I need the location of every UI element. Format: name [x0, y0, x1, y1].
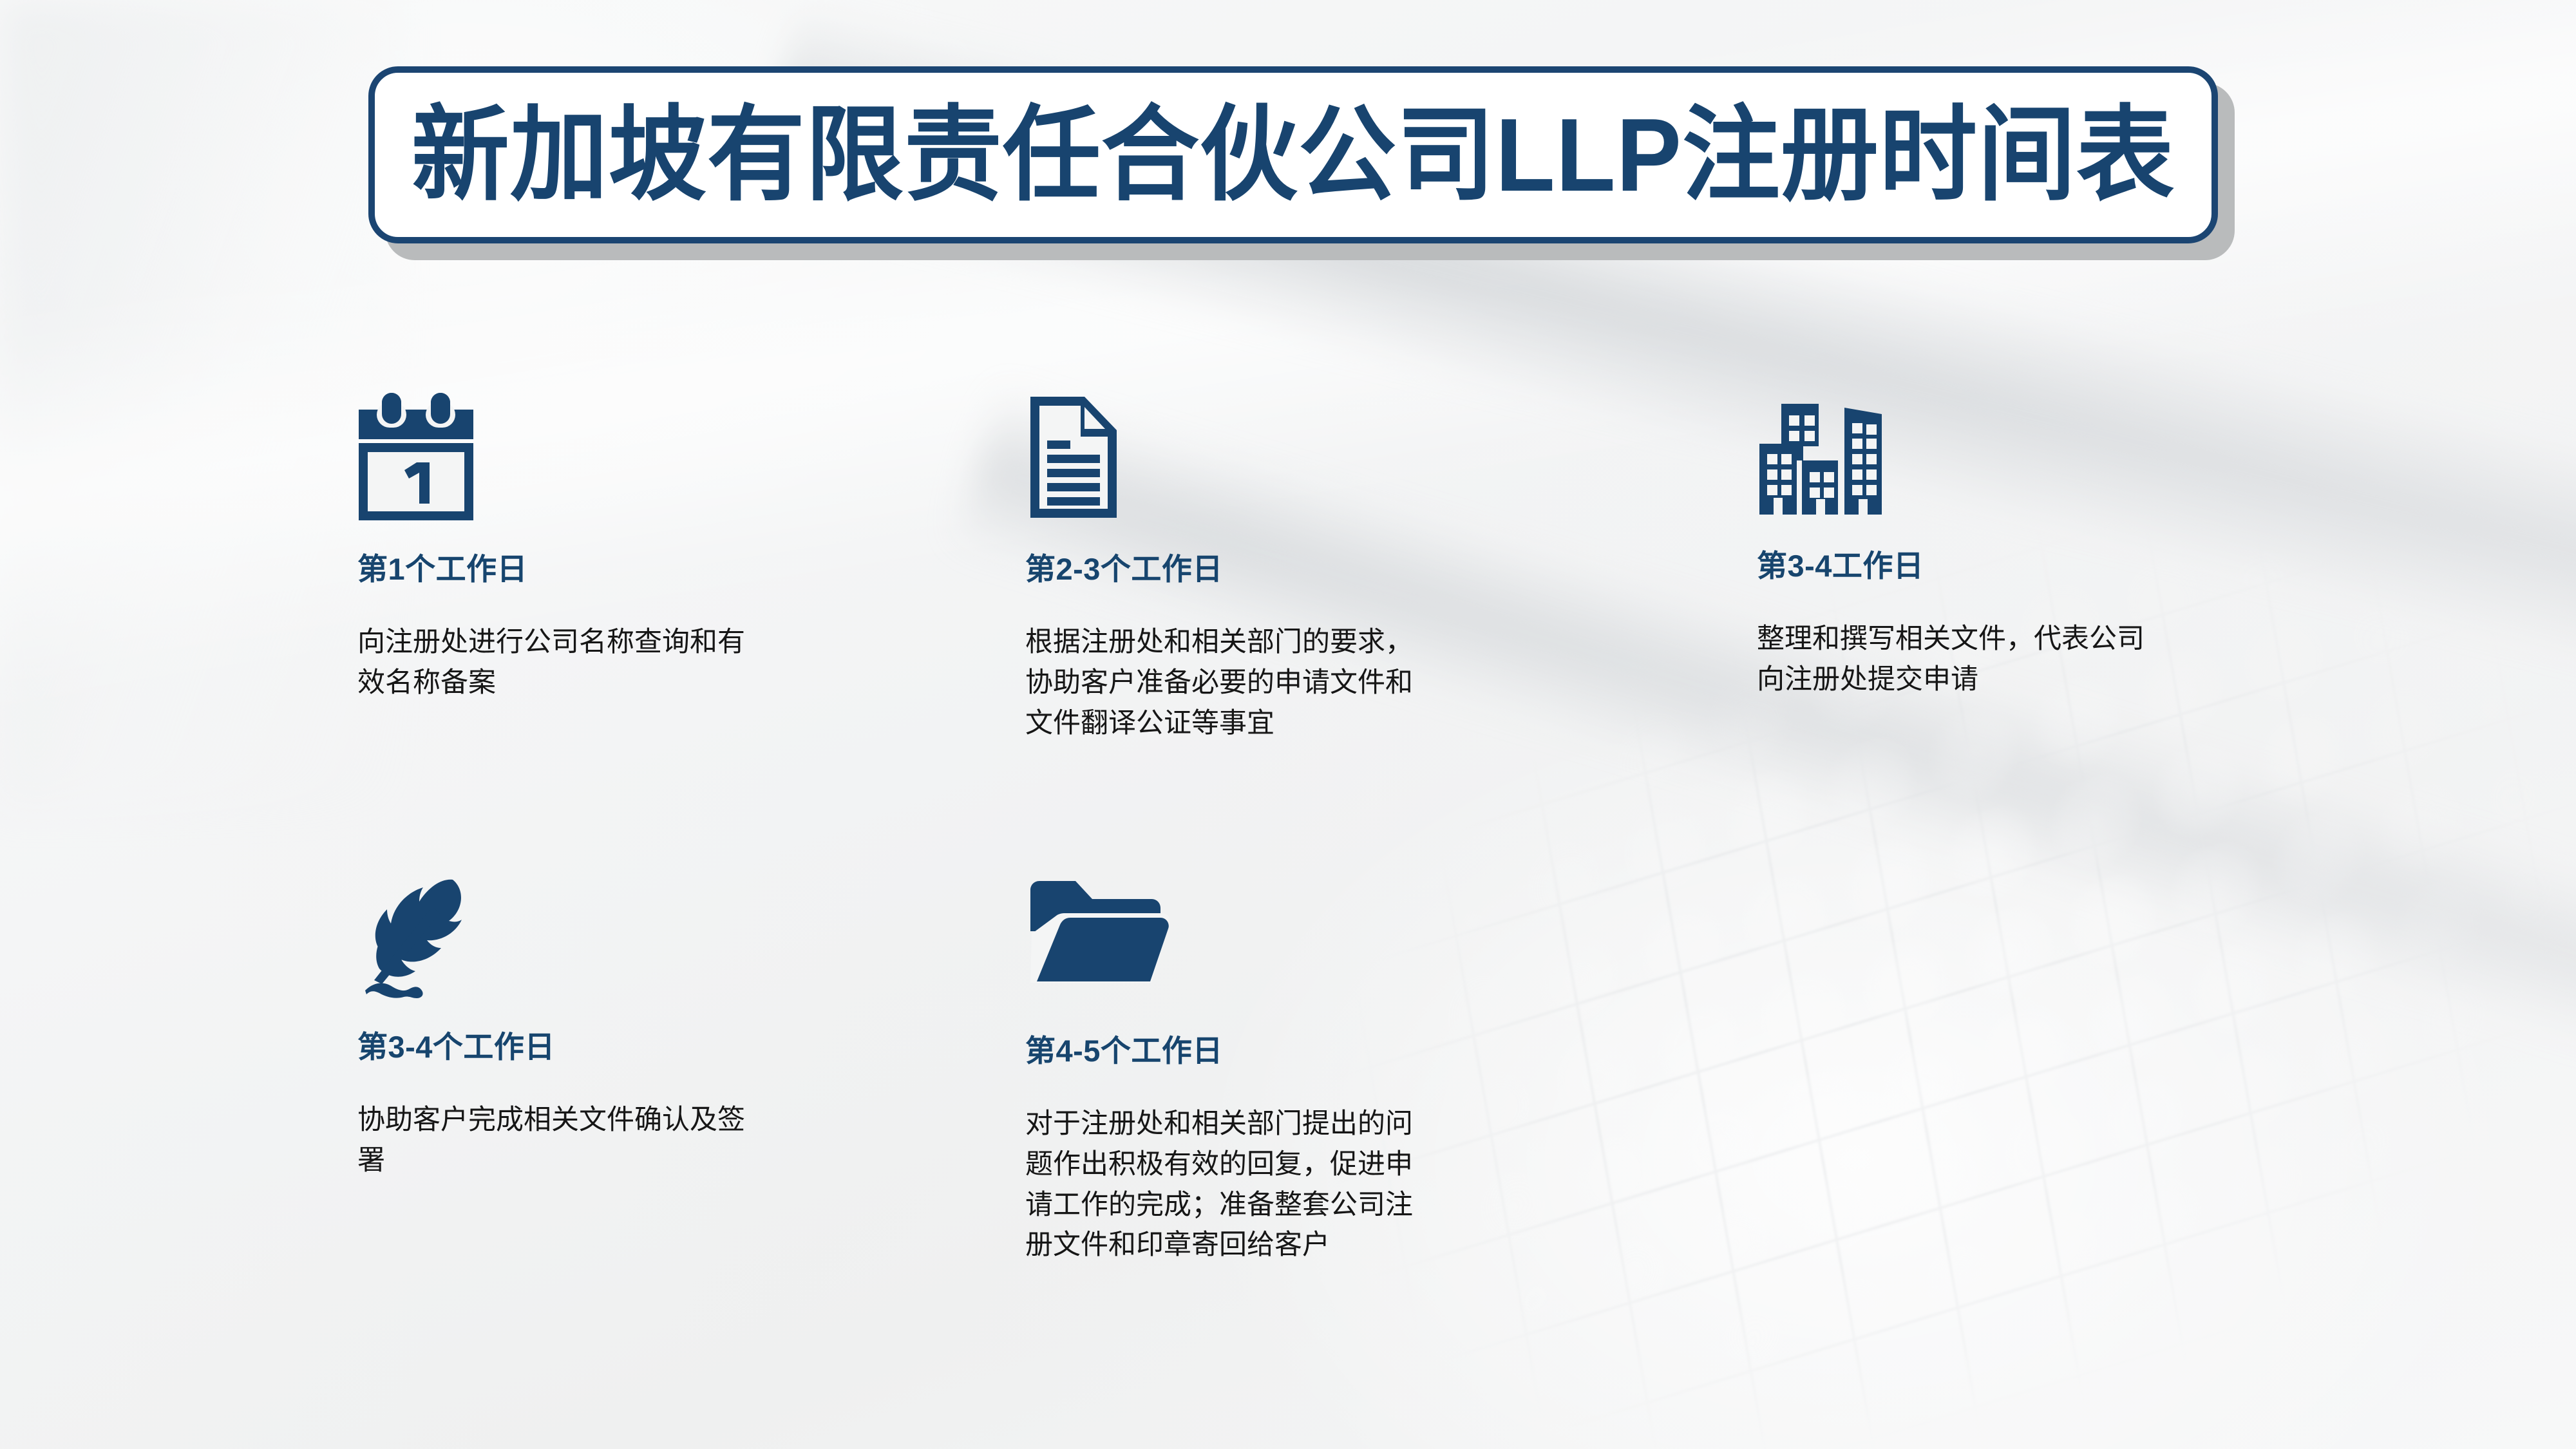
document-icon [1025, 393, 1560, 544]
step-card-2-body: 根据注册处和相关部门的要求， 协助客户准备必要的申请文件和 文件翻译公证等事宜 [1025, 622, 1560, 743]
step-card-2-title: 第2-3个工作日 [1025, 544, 1560, 589]
step-card-4-title: 第3-4个工作日 [357, 1022, 892, 1066]
step-card-4: 第3-4个工作日 协助客户完成相关文件确认及签 署 [357, 871, 892, 1181]
step-card-1-title: 第1个工作日 [357, 544, 892, 589]
step-card-5: 第4-5个工作日 对于注册处和相关部门提出的问 题作出积极有效的回复，促进申 请… [1025, 875, 1560, 1265]
step-card-1-body: 向注册处进行公司名称查询和有 效名称备案 [357, 622, 892, 703]
step-card-5-title: 第4-5个工作日 [1025, 1026, 1560, 1070]
buildings-icon [1757, 390, 2291, 541]
step-card-3-body: 整理和撰写相关文件，代表公司 向注册处提交申请 [1757, 619, 2291, 700]
step-card-2: 第2-3个工作日 根据注册处和相关部门的要求， 协助客户准备必要的申请文件和 文… [1025, 393, 1560, 743]
slide-canvas: 新加坡有限责任合伙公司LLP注册时间表 [0, 0, 2576, 1449]
step-card-1: 第1个工作日 向注册处进行公司名称查询和有 效名称备案 [357, 393, 892, 703]
quill-pen-icon [357, 871, 892, 1022]
calendar-icon [357, 393, 892, 544]
steps-grid: 第1个工作日 向注册处进行公司名称查询和有 效名称备案 [0, 0, 2576, 1449]
step-card-3: 第3-4工作日 整理和撰写相关文件，代表公司 向注册处提交申请 [1757, 390, 2291, 700]
step-card-3-title: 第3-4工作日 [1757, 541, 2291, 585]
step-card-5-body: 对于注册处和相关部门提出的问 题作出积极有效的回复，促进申 请工作的完成；准备整… [1025, 1104, 1560, 1265]
open-folder-icon [1025, 875, 1560, 1026]
step-card-4-body: 协助客户完成相关文件确认及签 署 [357, 1100, 892, 1181]
